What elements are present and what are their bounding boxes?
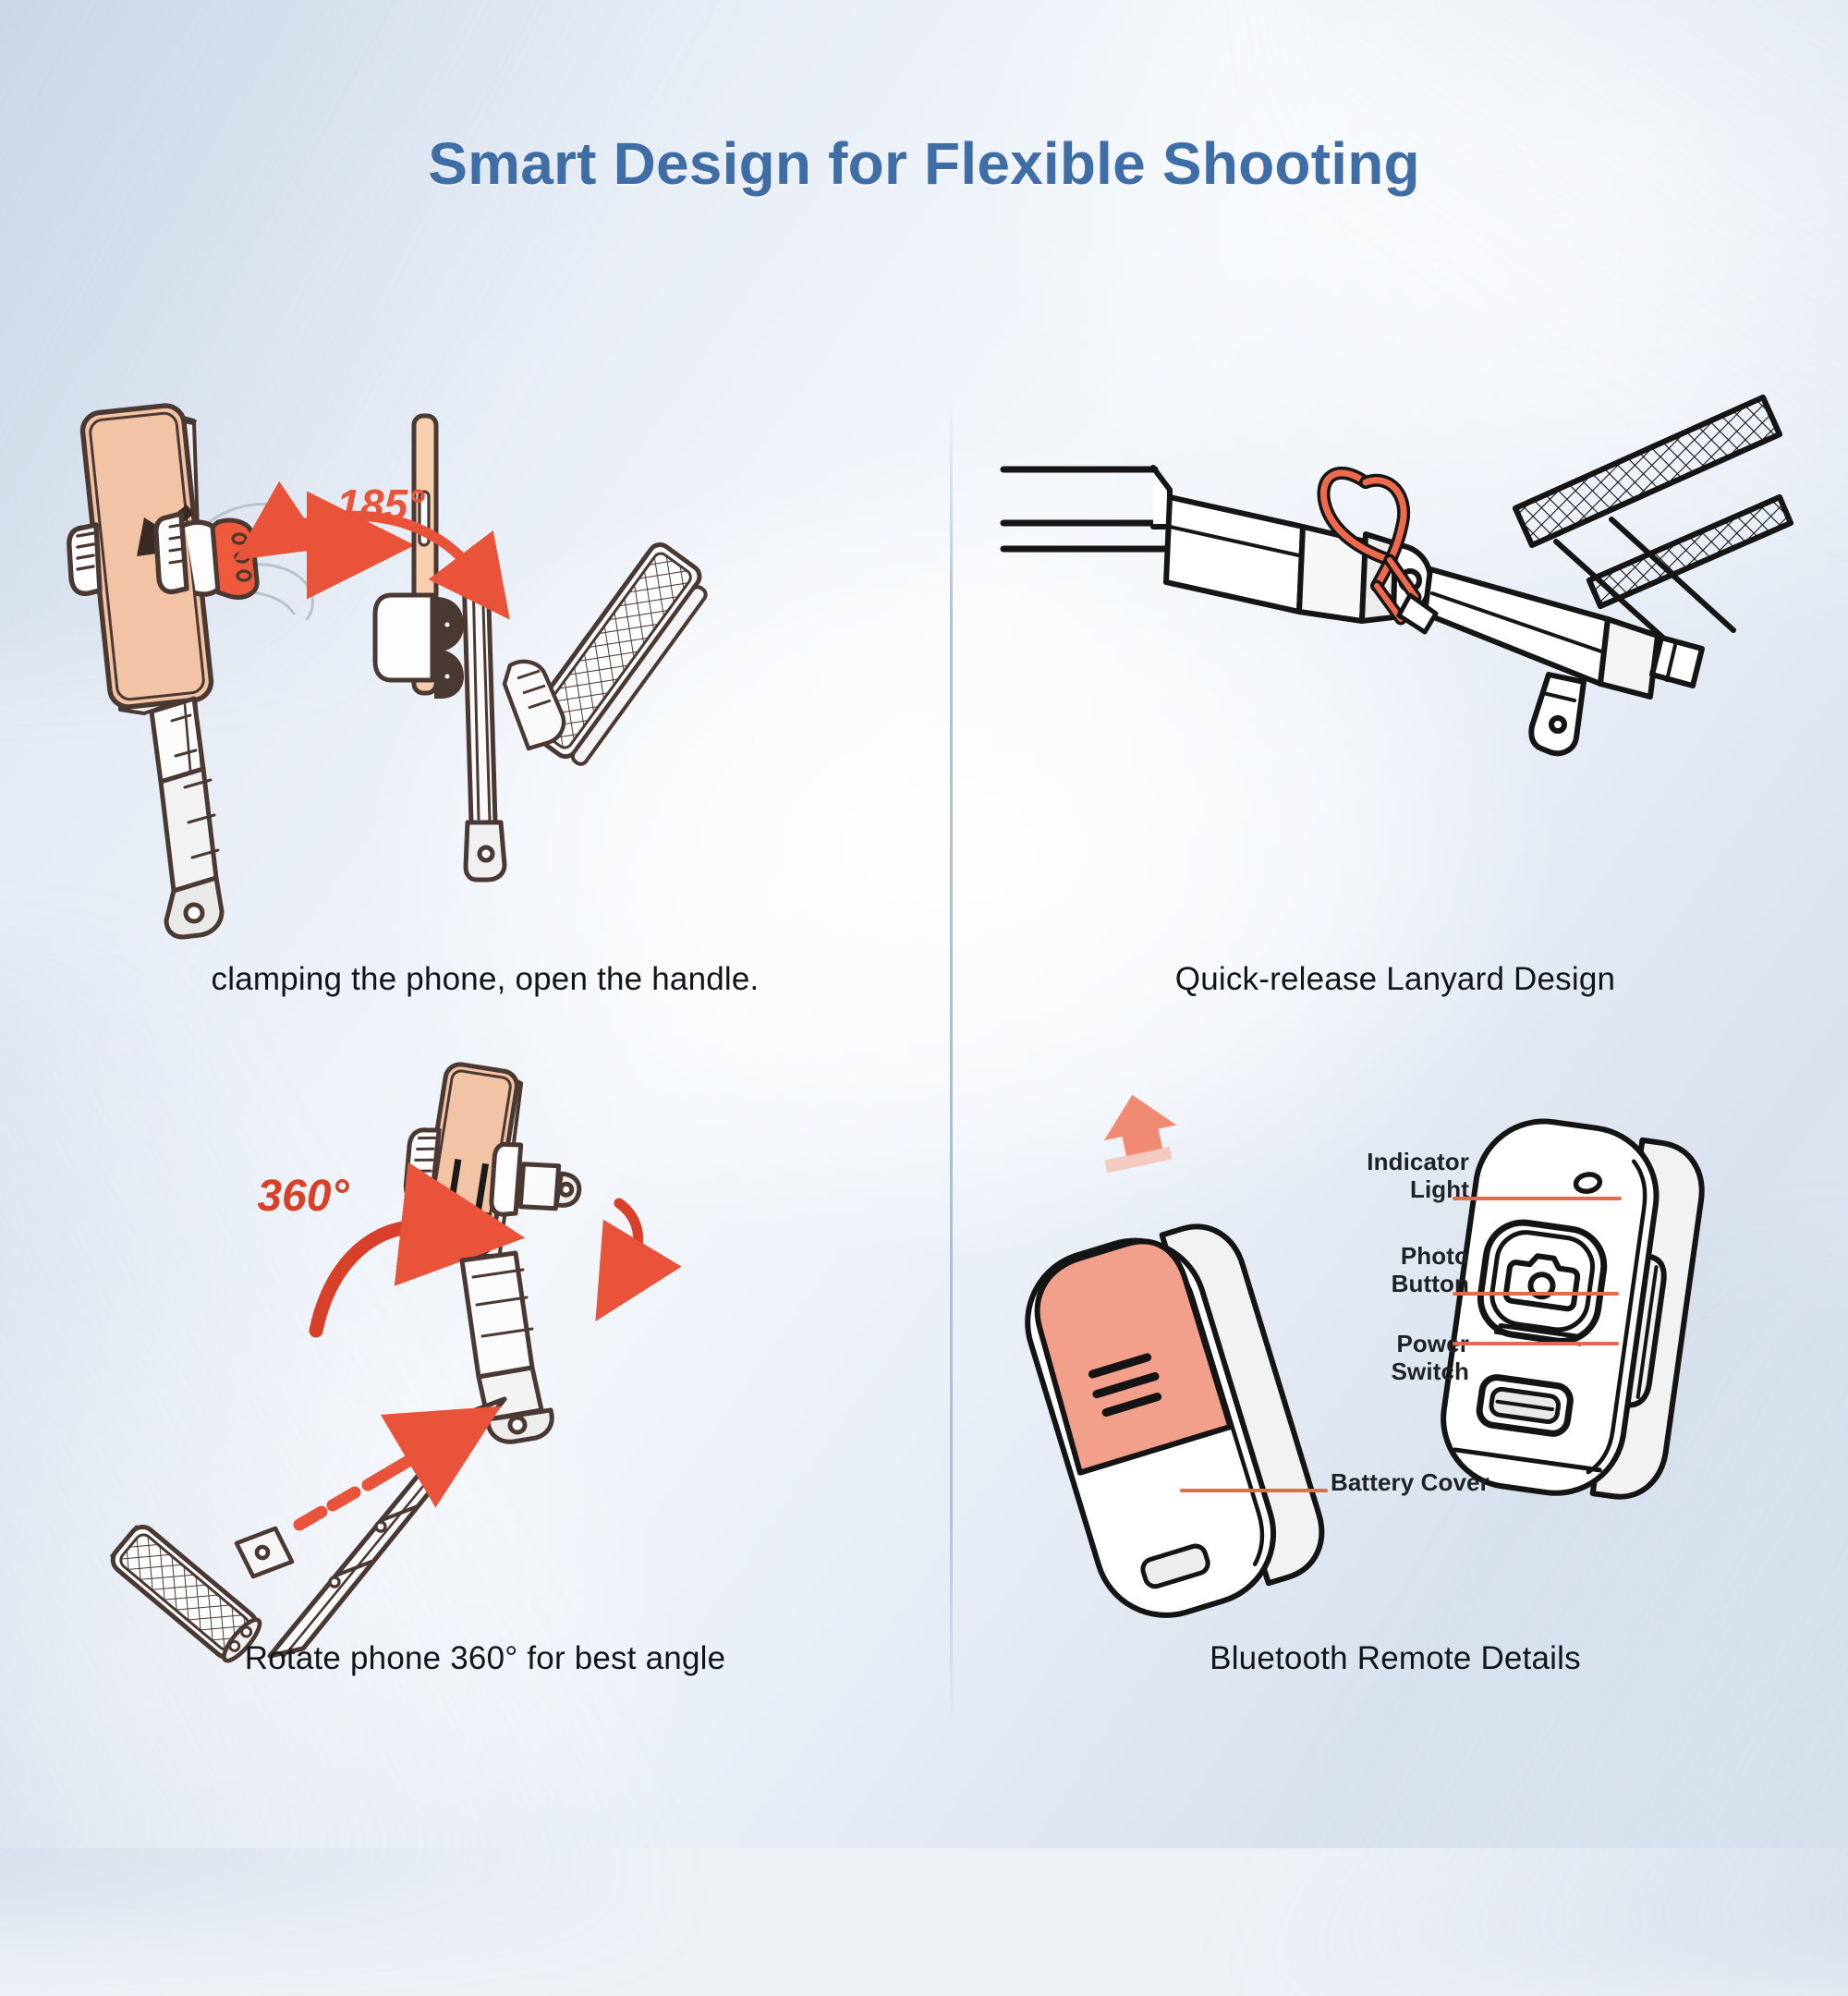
callout-photo-button-line1: Photo	[1294, 1243, 1469, 1271]
caption-lanyard: Quick-release Lanyard Design	[998, 961, 1793, 998]
callout-photo-button-line2: Button	[1294, 1271, 1469, 1298]
pole-collar	[237, 1528, 292, 1576]
remote-back	[1010, 1210, 1334, 1633]
leader-line-power-switch	[1453, 1342, 1619, 1345]
remote-front	[1435, 1113, 1709, 1508]
callout-power-switch-line2: Switch	[1294, 1358, 1469, 1386]
callout-indicator-light-line2: Light	[1294, 1176, 1469, 1204]
caption-clamping-the-phone: clamping the phone, open the handle.	[55, 961, 915, 998]
callout-indicator-light: Indicator Light	[1294, 1149, 1469, 1203]
handle-hinge-detail	[505, 662, 564, 748]
figure-rotate-phone-360: 360°	[55, 1063, 915, 1636]
tripod-foot-bracket	[1652, 638, 1702, 686]
caption-rotate-phone: Rotate phone 360° for best angle	[55, 1640, 915, 1677]
callout-battery-cover-line1: Battery Cover	[1331, 1469, 1571, 1497]
leader-line-battery-cover	[1180, 1489, 1328, 1492]
column-divider	[950, 397, 953, 1728]
quick-release-tab	[213, 520, 257, 597]
callout-indicator-light-line1: Indicator	[1294, 1149, 1469, 1176]
rotate-small-arrow-icon	[619, 1203, 638, 1260]
callout-power-switch: Power Switch	[1294, 1331, 1469, 1385]
figure-clamping-the-phone: 185°	[55, 388, 915, 906]
angle-360-label: 360°	[257, 1172, 349, 1221]
callout-photo-button: Photo Button	[1294, 1243, 1469, 1297]
selfie-stick-body	[152, 699, 222, 937]
telescoping-pole	[270, 1399, 505, 1658]
page-title: Smart Design for Flexible Shooting	[0, 129, 1848, 198]
callout-power-switch-line1: Power	[1294, 1331, 1469, 1358]
cover-slide-arrow-icon	[1096, 1087, 1181, 1173]
caption-bluetooth-remote: Bluetooth Remote Details	[998, 1640, 1793, 1677]
power-switch	[1477, 1376, 1572, 1436]
leader-line-photo-button	[1453, 1292, 1619, 1296]
release-clip	[1531, 675, 1584, 753]
callout-battery-cover: Battery Cover	[1331, 1469, 1571, 1497]
rotate-360-arrow-icon	[316, 1226, 429, 1331]
leader-line-indicator-light	[1453, 1197, 1622, 1200]
figure-quick-release-lanyard	[998, 388, 1793, 906]
phone-clamp-assembly	[69, 404, 222, 713]
photo-button	[1476, 1218, 1609, 1346]
angle-185-label: 185°	[336, 481, 425, 529]
rotating-phone-head	[394, 1058, 596, 1273]
